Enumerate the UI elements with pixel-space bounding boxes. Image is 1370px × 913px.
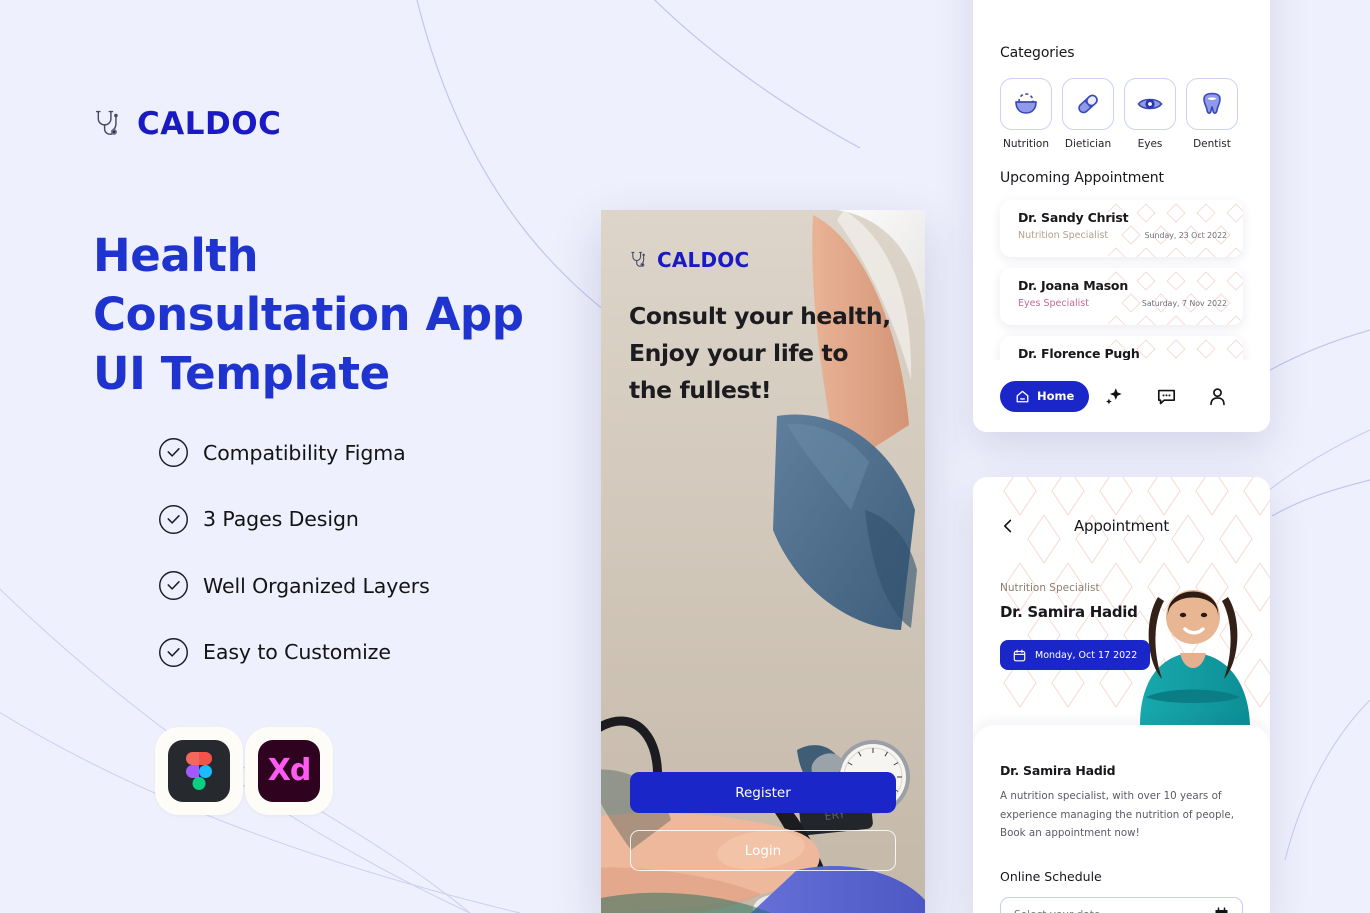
list-item[interactable]: Dr. Joana Mason Eyes Specialist Saturday… xyxy=(1000,268,1243,325)
list-item[interactable]: Dr. Sandy Christ Nutrition Specialist Su… xyxy=(1000,200,1243,257)
decorative-pattern xyxy=(1108,200,1243,257)
appointment-doctor-name: Dr. Joana Mason xyxy=(1018,278,1128,293)
left-info-panel: CALDOC Health Consultation App UI Templa… xyxy=(0,0,600,913)
appointment-date-pill[interactable]: Monday, Oct 17 2022 xyxy=(1000,640,1150,670)
categories-section: Categories Nutrition xyxy=(1000,45,1243,150)
list-item: 3 Pages Design xyxy=(158,503,430,536)
feature-list: Compatibility Figma 3 Pages Design Well … xyxy=(158,436,430,669)
page-title: Appointment xyxy=(1018,517,1225,535)
appointment-hero: Appointment Nutrition Specialist Dr. Sam… xyxy=(973,477,1270,725)
category-icon-box[interactable] xyxy=(1186,78,1238,130)
doctor-name: Dr. Samira Hadid xyxy=(1000,603,1138,621)
check-circle-icon xyxy=(158,437,189,468)
eye-icon xyxy=(1137,91,1163,117)
appointment-detail-sheet: Dr. Samira Hadid A nutrition specialist,… xyxy=(973,725,1270,913)
category-label: Nutrition xyxy=(1000,138,1052,150)
appointment-navbar: Appointment xyxy=(973,517,1270,535)
online-schedule-title: Online Schedule xyxy=(1000,869,1243,884)
doctor-specialty: Nutrition Specialist xyxy=(1000,582,1100,594)
list-item-label: 3 Pages Design xyxy=(203,507,359,531)
appointment-specialty: Eyes Specialist xyxy=(1018,298,1089,309)
back-button[interactable] xyxy=(1000,517,1018,535)
figma-badge xyxy=(155,727,243,815)
onboarding-actions: Register Login xyxy=(630,772,896,871)
sparkle-icon xyxy=(1104,386,1125,407)
doctor-name-detail: Dr. Samira Hadid xyxy=(1000,763,1243,778)
onboarding-header: CALDOC Consult your health, Enjoy your l… xyxy=(601,210,925,409)
tab-profile[interactable] xyxy=(1192,386,1243,407)
brand-name: CALDOC xyxy=(137,106,281,142)
categories-row: Nutrition Dietician xyxy=(1000,78,1243,150)
adobe-xd-label: Xd xyxy=(268,756,311,786)
adobe-xd-logo: Xd xyxy=(258,740,320,802)
doctor-portrait-photo xyxy=(1128,525,1258,725)
tab-home[interactable]: Home xyxy=(1000,381,1089,412)
page-title: Health Consultation App UI Template xyxy=(93,226,563,403)
appointment-date: Sunday, 23 Oct 2022 xyxy=(1145,231,1227,240)
tab-home-label: Home xyxy=(1037,389,1074,403)
check-circle-icon xyxy=(158,637,189,668)
bottom-tab-bar: Home xyxy=(973,360,1270,432)
category-item-dietician[interactable]: Dietician xyxy=(1062,78,1114,150)
list-item-label: Well Organized Layers xyxy=(203,574,430,598)
login-button[interactable]: Login xyxy=(630,830,896,871)
tooth-icon xyxy=(1199,91,1225,117)
chevron-left-icon xyxy=(1000,518,1016,534)
category-label: Dietician xyxy=(1062,138,1114,150)
check-circle-icon xyxy=(158,504,189,535)
category-icon-box[interactable] xyxy=(1124,78,1176,130)
stethoscope-icon xyxy=(92,106,128,142)
nutrition-bowl-icon xyxy=(1013,91,1039,117)
list-item-label: Compatibility Figma xyxy=(203,441,406,465)
category-icon-box[interactable] xyxy=(1000,78,1052,130)
figma-glyph-icon xyxy=(186,752,212,790)
list-item: Easy to Customize xyxy=(158,636,430,669)
onboarding-tagline: Consult your health, Enjoy your life to … xyxy=(629,298,897,409)
tab-sparkle[interactable] xyxy=(1089,386,1140,407)
appointment-specialty: Nutrition Specialist xyxy=(1018,230,1108,241)
date-input-placeholder: Select your date xyxy=(1014,909,1100,913)
brand-lockup: CALDOC xyxy=(92,106,281,142)
pill-capsule-icon xyxy=(1075,91,1101,117)
brand-name: CALDOC xyxy=(657,248,749,272)
calendar-icon[interactable] xyxy=(1214,907,1229,913)
tool-badges: Xd xyxy=(155,727,333,815)
category-icon-box[interactable] xyxy=(1062,78,1114,130)
category-label: Eyes xyxy=(1124,138,1176,150)
appointment-doctor-name: Dr. Florence Pugh xyxy=(1018,346,1140,361)
home-icon xyxy=(1015,389,1030,404)
chat-bubble-icon xyxy=(1156,386,1177,407)
appointment-doctor-name: Dr. Sandy Christ xyxy=(1018,210,1128,225)
category-item-nutrition[interactable]: Nutrition xyxy=(1000,78,1052,150)
category-label: Dentist xyxy=(1186,138,1238,150)
doctor-description: A nutrition specialist, with over 10 yea… xyxy=(1000,787,1243,843)
brand-lockup: CALDOC xyxy=(629,248,897,272)
stethoscope-icon xyxy=(629,249,651,271)
phone-home-screen: Chat Now Categories xyxy=(973,0,1270,432)
date-select-input[interactable]: Select your date xyxy=(1000,897,1243,913)
phone-appointment-screen: Appointment Nutrition Specialist Dr. Sam… xyxy=(973,477,1270,913)
register-button[interactable]: Register xyxy=(630,772,896,813)
list-item: Well Organized Layers xyxy=(158,569,430,602)
list-item-label: Easy to Customize xyxy=(203,640,391,664)
list-item: Compatibility Figma xyxy=(158,436,430,469)
adobe-xd-badge: Xd xyxy=(245,727,333,815)
poster-canvas: CALDOC Health Consultation App UI Templa… xyxy=(0,0,1370,913)
check-circle-icon xyxy=(158,570,189,601)
calendar-icon xyxy=(1013,649,1026,662)
upcoming-title: Upcoming Appointment xyxy=(1000,170,1243,186)
figma-logo xyxy=(168,740,230,802)
categories-title: Categories xyxy=(1000,45,1243,61)
decorative-pattern xyxy=(1108,268,1243,325)
appointment-date: Saturday, 7 Nov 2022 xyxy=(1142,299,1227,308)
tab-chat[interactable] xyxy=(1141,386,1192,407)
phone-onboarding-screen: ERY xyxy=(601,210,925,913)
person-icon xyxy=(1207,386,1228,407)
category-item-dentist[interactable]: Dentist xyxy=(1186,78,1238,150)
category-item-eyes[interactable]: Eyes xyxy=(1124,78,1176,150)
appointment-date-label: Monday, Oct 17 2022 xyxy=(1035,650,1137,661)
